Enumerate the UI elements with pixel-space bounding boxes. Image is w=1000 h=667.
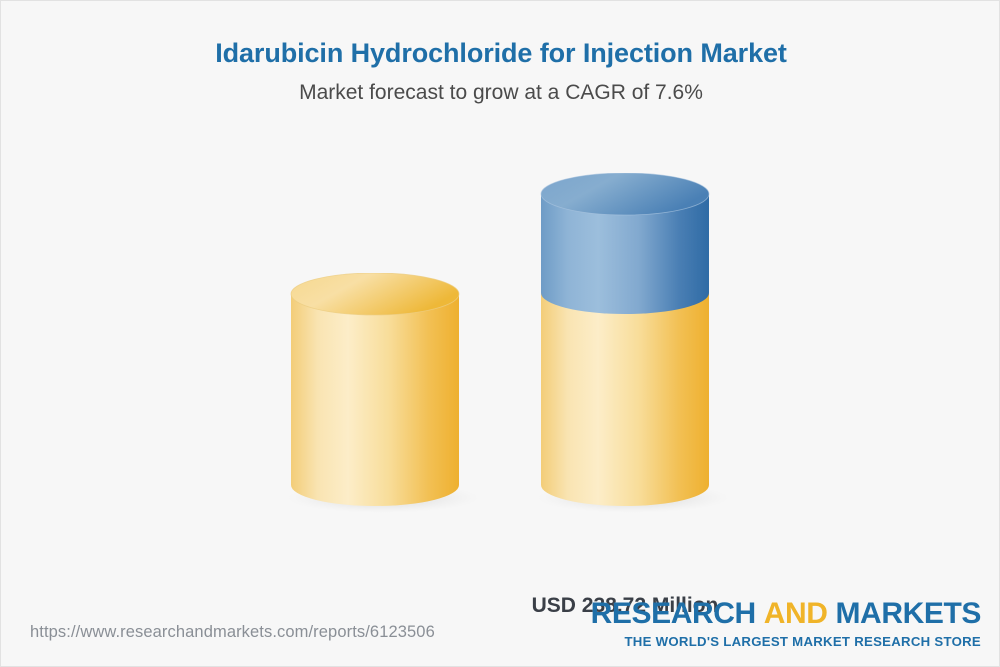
header: Idarubicin Hydrochloride for Injection M…	[1, 37, 1000, 106]
brand-word-research: RESEARCH	[591, 597, 756, 630]
brand-logo[interactable]: RESEARCH AND MARKETS THE WORLD'S LARGEST…	[591, 599, 981, 648]
chart-plot-area: USD 152.15 Million	[1, 141, 1000, 571]
brand-tagline: THE WORLD'S LARGEST MARKET RESEARCH STOR…	[591, 635, 981, 648]
cylinder-bar-2032	[509, 173, 741, 513]
brand-wordmark: RESEARCH AND MARKETS	[591, 599, 981, 629]
cylinder-2032-base-segment	[541, 293, 709, 506]
brand-word-markets: MARKETS	[835, 597, 981, 630]
brand-word-and: AND	[764, 597, 828, 630]
market-infographic: Idarubicin Hydrochloride for Injection M…	[0, 0, 1000, 667]
page-title: Idarubicin Hydrochloride for Injection M…	[1, 37, 1000, 69]
cylinder-bar-2026	[259, 273, 491, 513]
page-subtitle: Market forecast to grow at a CAGR of 7.6…	[1, 80, 1000, 105]
report-url[interactable]: https://www.researchandmarkets.com/repor…	[30, 623, 435, 642]
